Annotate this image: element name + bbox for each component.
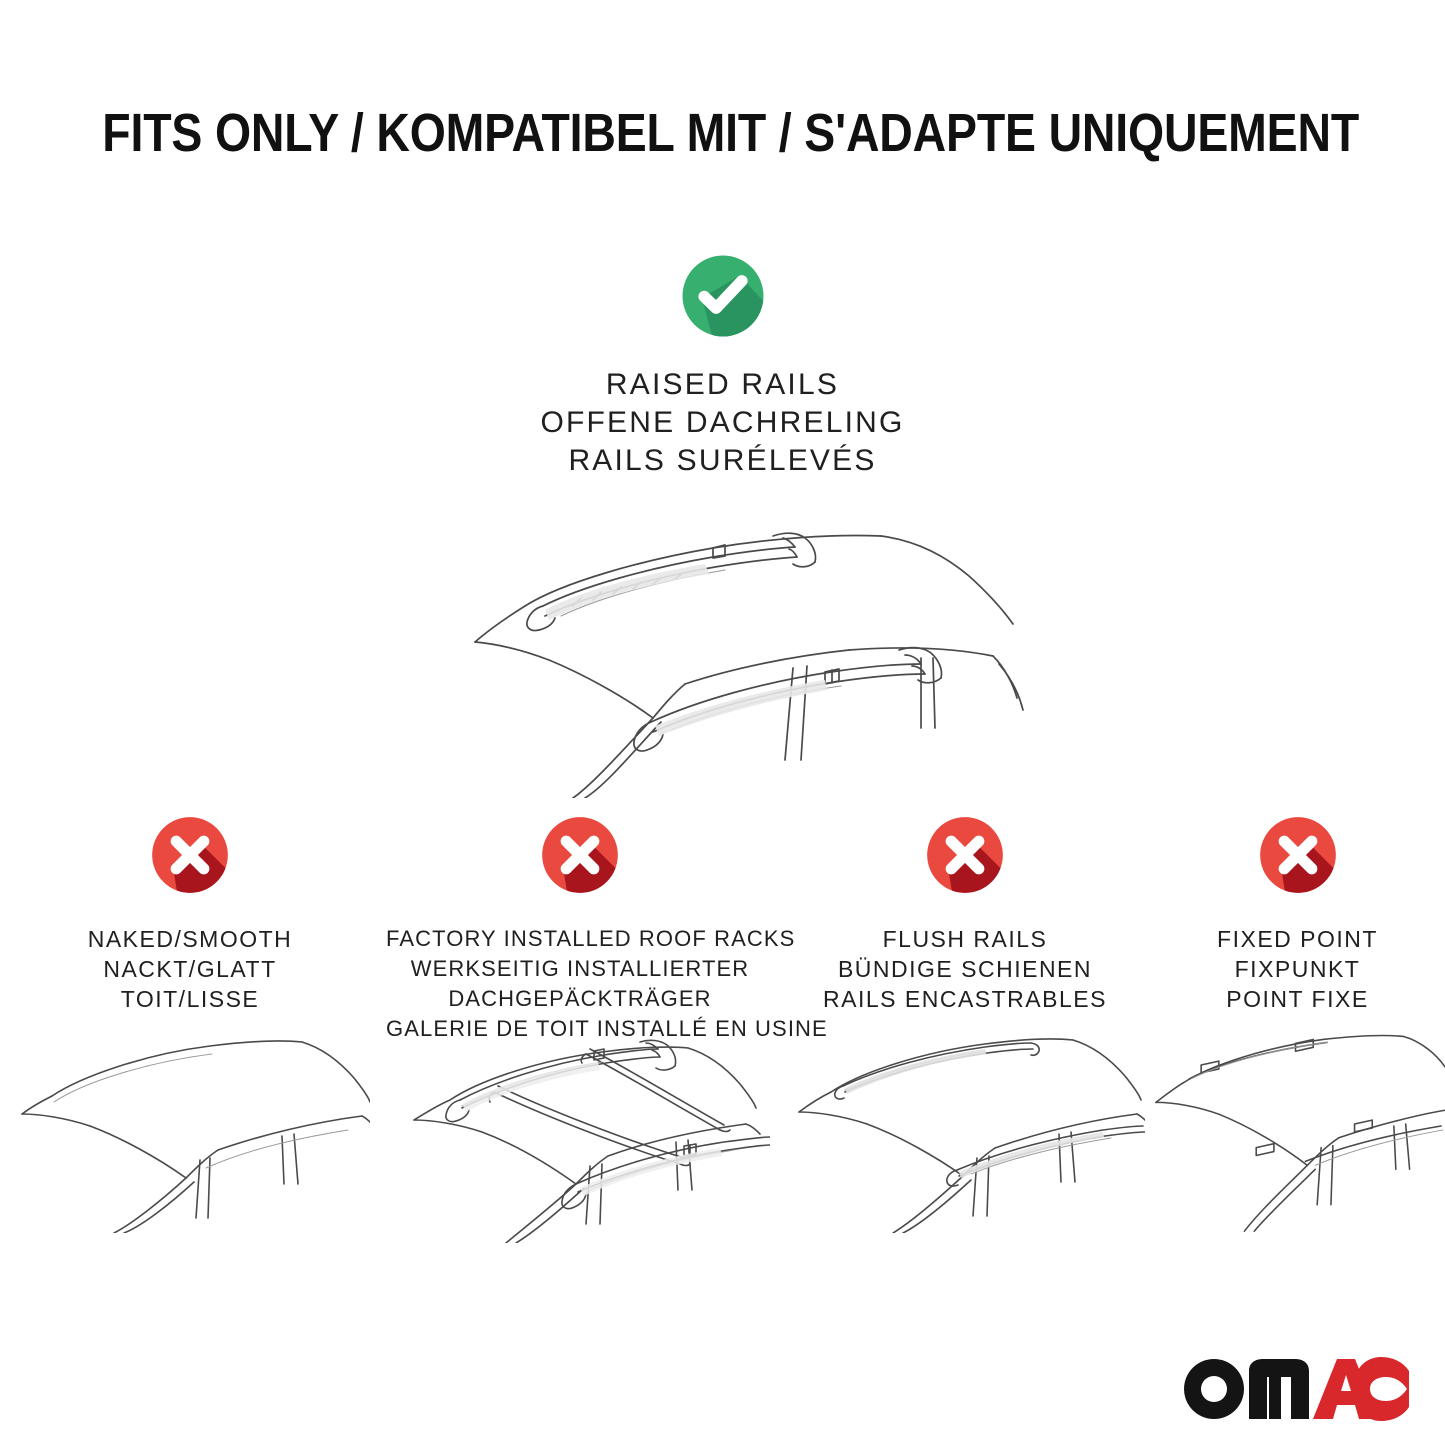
incompatible-item-naked-smooth: NAKED/SMOOTH NACKT/GLATT TOIT/LISSE (0, 812, 380, 1014)
red-x-circle-icon (780, 812, 1150, 908)
omac-logo: OMAC (1177, 1349, 1409, 1423)
label-line-en: NAKED/SMOOTH (6, 924, 374, 954)
label-line-de-1: WERKSEITIG INSTALLIERTER (386, 954, 774, 984)
incompatible-item-factory-installed-roof-racks: FACTORY INSTALLED ROOF RACKS WERKSEITIG … (380, 812, 780, 1044)
label-line-en: FACTORY INSTALLED ROOF RACKS (386, 924, 774, 954)
incompatible-item-fixed-point: FIXED POINT FIXPUNKT POINT FIXE (1150, 812, 1445, 1014)
incompatible-artwork-row (0, 1018, 1445, 1243)
label-line-fr: POINT FIXE (1156, 984, 1439, 1014)
page-title-text: FITS ONLY / KOMPATIBEL MIT / S'ADAPTE UN… (102, 104, 1359, 162)
compatible-label-en: RAISED RAILS (0, 366, 1445, 404)
compatible-label-fr: RAILS SURÉLEVÉS (0, 442, 1445, 480)
label-line-en: FLUSH RAILS (786, 924, 1144, 954)
compatible-labels: RAISED RAILS OFFENE DACHRELING RAILS SUR… (0, 366, 1445, 480)
incompatible-labels-fixed-point: FIXED POINT FIXPUNKT POINT FIXE (1150, 924, 1445, 1014)
car-roof-flush-rails-illustration (780, 1018, 1150, 1233)
incompatible-columns: NAKED/SMOOTH NACKT/GLATT TOIT/LISSE (0, 812, 1445, 1044)
incompatible-labels-flush-rails: FLUSH RAILS BÜNDIGE SCHIENEN RAILS ENCAS… (780, 924, 1150, 1014)
car-roof-factory-rack-illustration (380, 1018, 780, 1243)
car-roof-raised-rails-illustration (0, 498, 1445, 798)
incompatible-item-flush-rails: FLUSH RAILS BÜNDIGE SCHIENEN RAILS ENCAS… (780, 812, 1150, 1014)
label-line-de: NACKT/GLATT (6, 954, 374, 984)
red-x-circle-icon (1150, 812, 1445, 908)
red-x-circle-icon (380, 812, 780, 908)
page-title: FITS ONLY / KOMPATIBEL MIT / S'ADAPTE UN… (0, 104, 1445, 162)
compatible-section: RAISED RAILS OFFENE DACHRELING RAILS SUR… (0, 246, 1445, 480)
incompatible-labels-naked-smooth: NAKED/SMOOTH NACKT/GLATT TOIT/LISSE (0, 924, 380, 1014)
label-line-de: FIXPUNKT (1156, 954, 1439, 984)
green-check-circle-icon (0, 246, 1445, 346)
label-line-de: BÜNDIGE SCHIENEN (786, 954, 1144, 984)
label-line-de-2: DACHGEPÄCKTRÄGER (386, 984, 774, 1014)
label-line-en: FIXED POINT (1156, 924, 1439, 954)
infographic-page: FITS ONLY / KOMPATIBEL MIT / S'ADAPTE UN… (0, 0, 1445, 1445)
compatible-label-de: OFFENE DACHRELING (0, 404, 1445, 442)
label-line-fr: RAILS ENCASTRABLES (786, 984, 1144, 1014)
red-x-circle-icon (0, 812, 380, 908)
label-line-fr: TOIT/LISSE (6, 984, 374, 1014)
car-roof-naked-smooth-illustration (0, 1018, 380, 1233)
car-roof-fixed-point-illustration (1150, 1018, 1445, 1233)
